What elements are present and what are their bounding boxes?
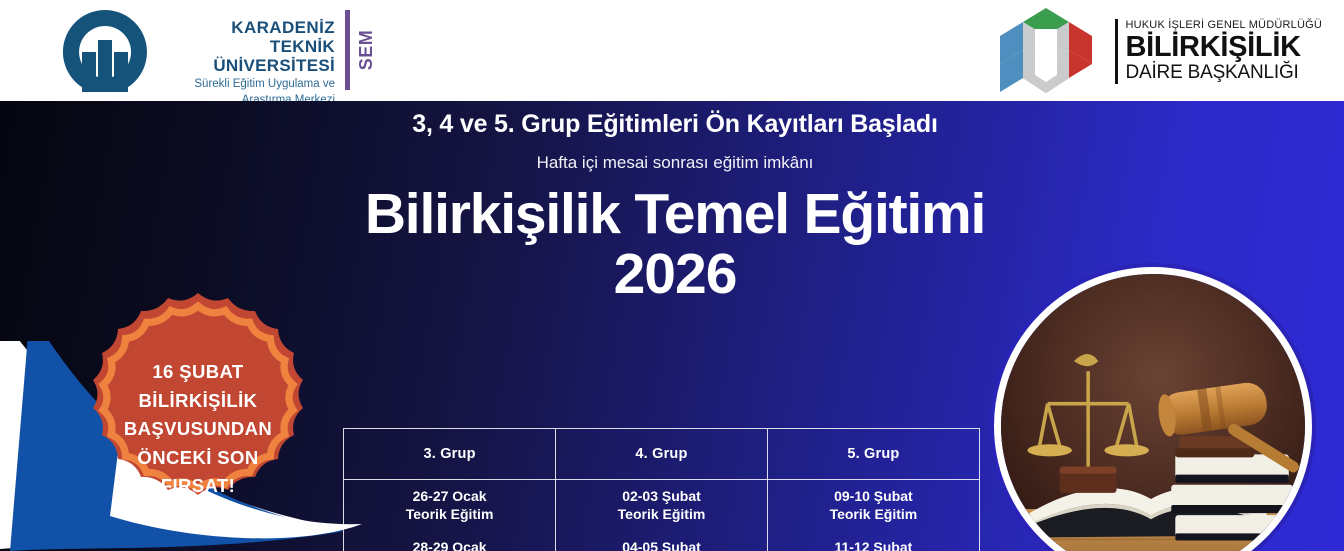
theory-slot: 09-10 Şubat Teorik Eğitim	[772, 488, 975, 523]
practice-slot: 04-05 Şubat Uygulama Eğitimi	[560, 539, 763, 551]
theory-date: 02-03 Şubat	[560, 488, 763, 506]
practice-date: 04-05 Şubat	[560, 539, 763, 551]
column-header-group-5: 5. Grup	[767, 429, 979, 480]
badge-line-4: ÖNCEKİ SON	[137, 444, 258, 473]
hexagon-icon	[987, 5, 1105, 97]
badge-line-3: BAŞVUSUNDAN	[124, 415, 272, 444]
banner-subtitle: Hafta içi mesai sonrası eğitim imkânı	[330, 152, 1020, 174]
table-header-row: 3. Grup 4. Grup 5. Grup	[344, 429, 979, 480]
banner-title: Bilirkişilik Temel Eğitimi	[330, 183, 1020, 245]
bilirkisilik-logo: HUKUK İŞLERİ GENEL MÜDÜRLÜĞÜ BİLİRKİŞİLİ…	[987, 5, 1322, 97]
cell-group-5: 09-10 Şubat Teorik Eğitim 11-12 Şubat Uy…	[767, 480, 979, 551]
ktu-line-2: TEKNİK ÜNİVERSİTESİ	[170, 37, 335, 75]
schedule-table: 3. Grup 4. Grup 5. Grup 26-27 Ocak Teori…	[343, 428, 980, 551]
headline-block: 3, 4 ve 5. Grup Eğitimleri Ön Kayıtları …	[330, 109, 1020, 303]
ktu-line-1: KARADENİZ	[170, 18, 335, 37]
deadline-badge-text: 16 ŞUBAT BİLİRKİŞİLİK BAŞVUSUNDAN ÖNCEKİ…	[57, 287, 339, 551]
scales-gavel-books-illustration	[1001, 274, 1305, 551]
sem-divider	[345, 10, 350, 90]
cell-group-3: 26-27 Ocak Teorik Eğitim 28-29 Ocak Uygu…	[344, 480, 556, 551]
ktu-wordmark: KARADENİZ TEKNİK ÜNİVERSİTESİ Sürekli Eğ…	[170, 18, 335, 107]
banner-body: 3, 4 ve 5. Grup Eğitimleri Ön Kayıtları …	[0, 101, 1344, 551]
banner-kicker: 3, 4 ve 5. Grup Eğitimleri Ön Kayıtları …	[330, 109, 1020, 139]
theory-date: 26-27 Ocak	[348, 488, 551, 506]
practice-date: 11-12 Şubat	[772, 539, 975, 551]
theory-label: Teorik Eğitim	[560, 506, 763, 524]
ktu-logo-mark	[45, 6, 165, 98]
practice-date: 28-29 Ocak	[348, 539, 551, 551]
bk-line-3: DAİRE BAŞKANLIĞI	[1125, 62, 1322, 84]
ktu-line-3a: Sürekli Eğitim Uygulama ve	[170, 77, 335, 91]
theory-slot: 02-03 Şubat Teorik Eğitim	[560, 488, 763, 523]
theory-date: 09-10 Şubat	[772, 488, 975, 506]
theory-label: Teorik Eğitim	[772, 506, 975, 524]
badge-line-2: BİLİRKİŞİLİK	[139, 387, 258, 416]
justice-photo	[994, 267, 1312, 551]
theory-label: Teorik Eğitim	[348, 506, 551, 524]
badge-line-1: 16 ŞUBAT	[152, 358, 243, 387]
bk-line-2: BİLİRKİŞİLİK	[1125, 32, 1322, 62]
cell-group-4: 02-03 Şubat Teorik Eğitim 04-05 Şubat Uy…	[556, 480, 768, 551]
promo-banner-page: KARADENİZ TEKNİK ÜNİVERSİTESİ Sürekli Eğ…	[0, 0, 1344, 551]
practice-slot: 11-12 Şubat Uygulama Eğitimi	[772, 539, 975, 551]
badge-line-5: FIRSAT!	[161, 472, 235, 501]
ktu-logo	[45, 6, 165, 98]
column-header-group-4: 4. Grup	[556, 429, 768, 480]
table-row: 26-27 Ocak Teorik Eğitim 28-29 Ocak Uygu…	[344, 480, 979, 551]
bilirkisilik-wordmark: HUKUK İŞLERİ GENEL MÜDÜRLÜĞÜ BİLİRKİŞİLİ…	[1115, 19, 1322, 84]
sem-label: SEM	[356, 20, 384, 80]
column-header-group-3: 3. Grup	[344, 429, 556, 480]
logo-header-bar: KARADENİZ TEKNİK ÜNİVERSİTESİ Sürekli Eğ…	[0, 0, 1344, 101]
practice-slot: 28-29 Ocak Uygulama Eğitimi	[348, 539, 551, 551]
bk-line-1: HUKUK İŞLERİ GENEL MÜDÜRLÜĞÜ	[1125, 19, 1322, 32]
theory-slot: 26-27 Ocak Teorik Eğitim	[348, 488, 551, 523]
deadline-badge: 16 ŞUBAT BİLİRKİŞİLİK BAŞVUSUNDAN ÖNCEKİ…	[57, 287, 339, 551]
banner-year: 2026	[330, 245, 1020, 303]
